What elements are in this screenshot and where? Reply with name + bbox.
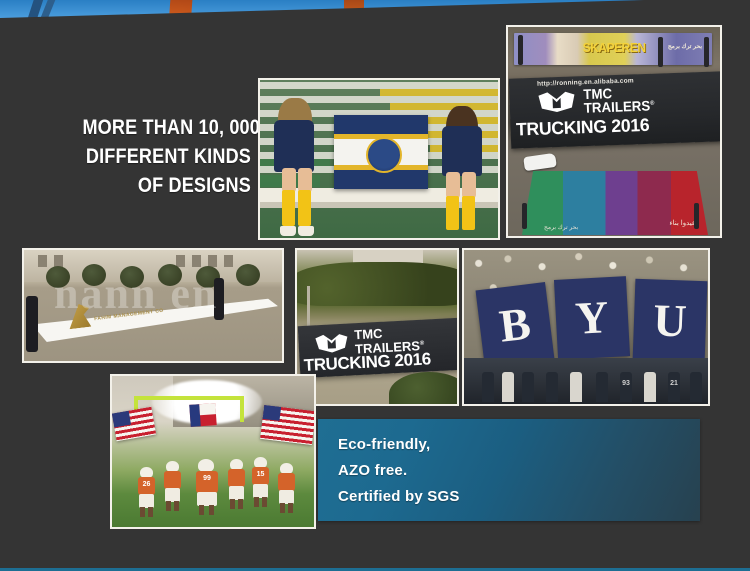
skaperen-banner-right-text: بحر ترك برمج xyxy=(668,43,702,50)
player-93: 93 xyxy=(620,372,632,402)
banner-page: MORE THAN 10, 000 DIFFERENT KINDS OF DES… xyxy=(0,0,750,571)
person-left xyxy=(26,296,38,352)
skaperen-banner: SKAPEREN بحر ترك برمج xyxy=(514,33,712,65)
tmc-trailers-text: TMC TRAILERS® xyxy=(583,86,655,114)
eco-info-panel: Eco-friendly, AZO free. Certified by SGS xyxy=(318,419,700,521)
photo-cheerleaders xyxy=(258,78,500,240)
arabic-banner-text-2: بحر ترك برمج xyxy=(544,224,578,231)
trucking-2016-text: TRUCKING 2016 xyxy=(516,115,650,141)
page-headline: MORE THAN 10, 000 DIFFERENT KINDS OF DES… xyxy=(82,113,251,200)
photo-tmc-banner-ground: TMC TRAILERS® TRUCKING 2016 xyxy=(295,248,459,406)
muziny-club-flag xyxy=(334,115,428,189)
tmc-logo-icon xyxy=(314,332,349,354)
player-26: 26 xyxy=(138,467,155,515)
photo-byu-flags: B Y U 93 21 xyxy=(462,248,710,406)
headline-line-2: DIFFERENT KINDS xyxy=(82,142,251,171)
player-15: 15 xyxy=(252,457,269,505)
panel-line-1: Eco-friendly, xyxy=(338,436,430,453)
tmc-trucking-banner: TMC TRAILERS® TRUCKING 2016 xyxy=(298,318,457,378)
player-21: 21 xyxy=(668,372,680,402)
usa-flag-right-icon xyxy=(260,405,314,445)
photo-football-team: 26 99 15 xyxy=(110,374,316,529)
person-right xyxy=(214,278,224,320)
headline-line-3: OF DESIGNS xyxy=(82,171,251,200)
panel-line-3: Certified by SGS xyxy=(338,488,460,505)
tmc-logo-icon xyxy=(537,89,576,112)
tmc-trucking-banner-large: http://ronning.en.alibaba.com TMC TRAILE… xyxy=(509,71,720,148)
headline-line-1: MORE THAN 10, 000 xyxy=(82,113,251,142)
flag-letter-b: B xyxy=(476,282,555,368)
flag-letter-u: U xyxy=(633,279,708,363)
photo-white-banner: FAHIM MANAGEMENT CO nann en xyxy=(22,248,284,363)
flag-letter-y: Y xyxy=(554,276,630,360)
trucking-2016-text: TRUCKING 2016 xyxy=(303,349,431,376)
player-99: 99 xyxy=(196,459,218,515)
skaperen-banner-text: SKAPEREN xyxy=(583,40,646,55)
panel-line-2: AZO free. xyxy=(338,462,407,479)
club-crest-icon xyxy=(366,137,402,173)
texas-flag-icon xyxy=(189,403,216,427)
photo-banners-collage: SKAPEREN بحر ترك برمج http://ronning.en.… xyxy=(506,25,722,238)
